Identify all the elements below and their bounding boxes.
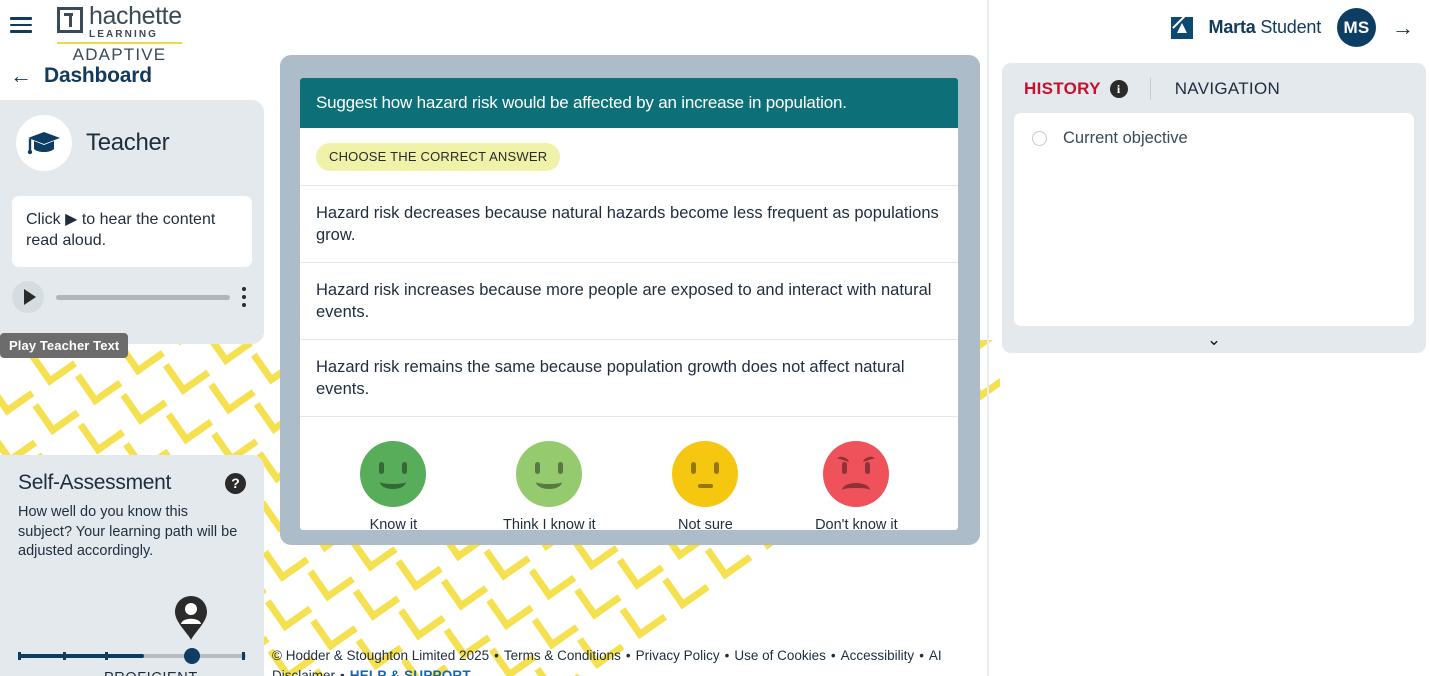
confidence-label: Don't know it [815, 517, 898, 530]
slider-handle[interactable] [184, 648, 200, 664]
self-assessment-level: PROFICIENT [104, 670, 198, 676]
footer-copyright: © Hodder & Stoughton Limited 2025 [272, 648, 489, 663]
breadcrumb-label: Dashboard [44, 64, 152, 88]
play-icon[interactable] [12, 281, 44, 313]
hamburger-menu-icon[interactable] [10, 17, 32, 33]
instruction-chip: CHOOSE THE CORRECT ANSWER [316, 143, 560, 171]
footer-link[interactable]: Terms & Conditions [504, 648, 621, 663]
footer-separator: • [919, 648, 924, 663]
pattern-chevron [32, 388, 79, 435]
arrow-left-icon[interactable]: ← [10, 65, 32, 87]
teacher-panel: Teacher Click ▶ to hear the content read… [0, 100, 264, 344]
slider-tick [105, 652, 108, 660]
question-card: Suggest how hazard risk would be affecte… [300, 78, 958, 530]
self-assessment-title: Self-Assessment [18, 471, 171, 495]
footer-separator: • [831, 648, 836, 663]
kebab-menu-icon[interactable] [242, 287, 246, 307]
face-eye [558, 462, 563, 474]
answer-options-list: Hazard risk decreases because natural ha… [300, 185, 958, 417]
teacher-instruction: Click ▶ to hear the content read aloud. [12, 196, 252, 267]
teacher-title: Teacher [86, 129, 169, 157]
pattern-chevron [532, 602, 579, 649]
footer-separator: • [340, 668, 345, 676]
confidence-button[interactable]: Not sure [672, 441, 738, 530]
pattern-chevron [529, 553, 576, 600]
face-icon [516, 441, 582, 507]
objective-radio[interactable] [1032, 131, 1047, 146]
footer-separator: • [494, 648, 499, 663]
pattern-chevron [617, 542, 664, 589]
user-last-name: Student [1256, 17, 1321, 37]
pattern-chevron [75, 358, 122, 405]
confidence-label: Think I know it [503, 517, 596, 530]
question-prompt: Suggest how hazard risk would be affecte… [300, 78, 958, 128]
face-icon [360, 441, 426, 507]
self-assessment-slider[interactable]: PROFICIENT [18, 602, 246, 672]
face-brow [837, 455, 851, 465]
confidence-button[interactable]: Think I know it [503, 441, 596, 530]
face-brow [863, 455, 877, 465]
top-bar: hachette LEARNING ADAPTIVE Marta Student… [0, 0, 1430, 55]
person-pin-icon [169, 592, 213, 644]
pattern-chevron [662, 562, 709, 609]
brand-subtitle: LEARNING [89, 30, 182, 40]
product-name: ADAPTIVE [57, 45, 182, 65]
confidence-label: Know it [360, 517, 426, 530]
self-assessment-description: How well do you know this subject? Your … [18, 503, 246, 562]
confidence-label: Not sure [672, 517, 738, 530]
footer: © Hodder & Stoughton Limited 2025•Terms … [272, 646, 982, 676]
slider-tick [242, 652, 245, 660]
face-eye [535, 462, 540, 474]
pattern-chevron [620, 592, 667, 639]
hachette-glyph-icon [57, 7, 83, 33]
chevron-down-icon[interactable]: ⌄ [1002, 331, 1426, 348]
pattern-chevron [265, 584, 312, 631]
face-icon [823, 441, 889, 507]
footer-separator: • [725, 648, 730, 663]
answer-option[interactable]: Hazard risk increases because more peopl… [300, 263, 958, 340]
face-eye [714, 462, 719, 474]
face-eye [379, 462, 384, 474]
face-mouth [842, 483, 870, 497]
slider-tick [18, 652, 21, 660]
audio-player [0, 267, 264, 313]
pattern-chevron [166, 397, 213, 444]
answer-option[interactable]: Hazard risk decreases because natural ha… [300, 185, 958, 263]
notifications-off-icon[interactable] [1171, 17, 1193, 39]
history-navigation-panel: HISTORY i NAVIGATION Current objective ⌄ [1002, 63, 1426, 353]
confidence-rating-row: Know itThink I know itNot sureDon't know… [300, 417, 958, 530]
pattern-chevron [163, 348, 210, 395]
footer-link[interactable]: Accessibility [841, 648, 915, 663]
face-mouth [380, 475, 406, 489]
pattern-chevron [353, 573, 400, 620]
audio-progress-track[interactable] [56, 295, 230, 300]
user-first-name: Marta [1209, 17, 1256, 37]
pattern-chevron [0, 368, 34, 415]
confidence-button[interactable]: Know it [360, 441, 426, 530]
answer-option[interactable]: Hazard risk remains the same because pop… [300, 340, 958, 417]
confidence-button[interactable]: Don't know it [815, 441, 898, 530]
pattern-chevron [208, 367, 255, 414]
pattern-chevron [120, 377, 167, 424]
help-support-link[interactable]: HELP & SUPPORT [350, 668, 471, 676]
avatar[interactable]: MS [1337, 8, 1376, 47]
pattern-chevron [574, 572, 621, 619]
footer-link[interactable]: Privacy Policy [636, 648, 720, 663]
arrow-right-icon[interactable]: → [1392, 17, 1414, 39]
user-name: Marta Student [1209, 17, 1321, 38]
brand-rule [57, 42, 182, 44]
pattern-chevron [396, 544, 443, 591]
list-item[interactable]: Current objective [1032, 129, 1396, 148]
pattern-chevron [398, 593, 445, 640]
face-mouth [536, 475, 562, 489]
face-eye [691, 462, 696, 474]
info-icon[interactable]: i [1110, 80, 1128, 98]
footer-separator: • [626, 648, 631, 663]
footer-link[interactable]: Use of Cookies [734, 648, 826, 663]
vertical-divider [987, 0, 989, 676]
breadcrumb[interactable]: ← Dashboard [10, 64, 152, 88]
pattern-chevron [441, 563, 488, 610]
tab-navigation[interactable]: NAVIGATION [1151, 79, 1280, 99]
tab-history[interactable]: HISTORY i [1024, 79, 1128, 99]
history-list: Current objective [1014, 113, 1414, 326]
play-teacher-text-tooltip: Play Teacher Text [0, 333, 128, 358]
self-assessment-panel: Self-Assessment ? How well do you know t… [0, 455, 264, 676]
pattern-chevron [310, 603, 357, 650]
brand-name: hachette [89, 4, 182, 29]
slider-tick [63, 652, 66, 660]
face-icon [672, 441, 738, 507]
question-mark-icon[interactable]: ? [225, 473, 246, 494]
tab-history-label: HISTORY [1024, 79, 1101, 99]
face-mouth [698, 484, 713, 488]
pattern-chevron [308, 554, 355, 601]
pattern-chevron [78, 407, 125, 454]
face-eye [402, 462, 407, 474]
brand-logo[interactable]: hachette LEARNING ADAPTIVE [57, 4, 182, 65]
tab-navigation-label: NAVIGATION [1175, 79, 1280, 99]
objective-label: Current objective [1063, 129, 1188, 148]
user-zone: Marta Student MS → [1171, 8, 1414, 47]
pattern-chevron [486, 583, 533, 630]
graduation-cap-icon [16, 115, 72, 171]
slider-fill [18, 654, 144, 658]
